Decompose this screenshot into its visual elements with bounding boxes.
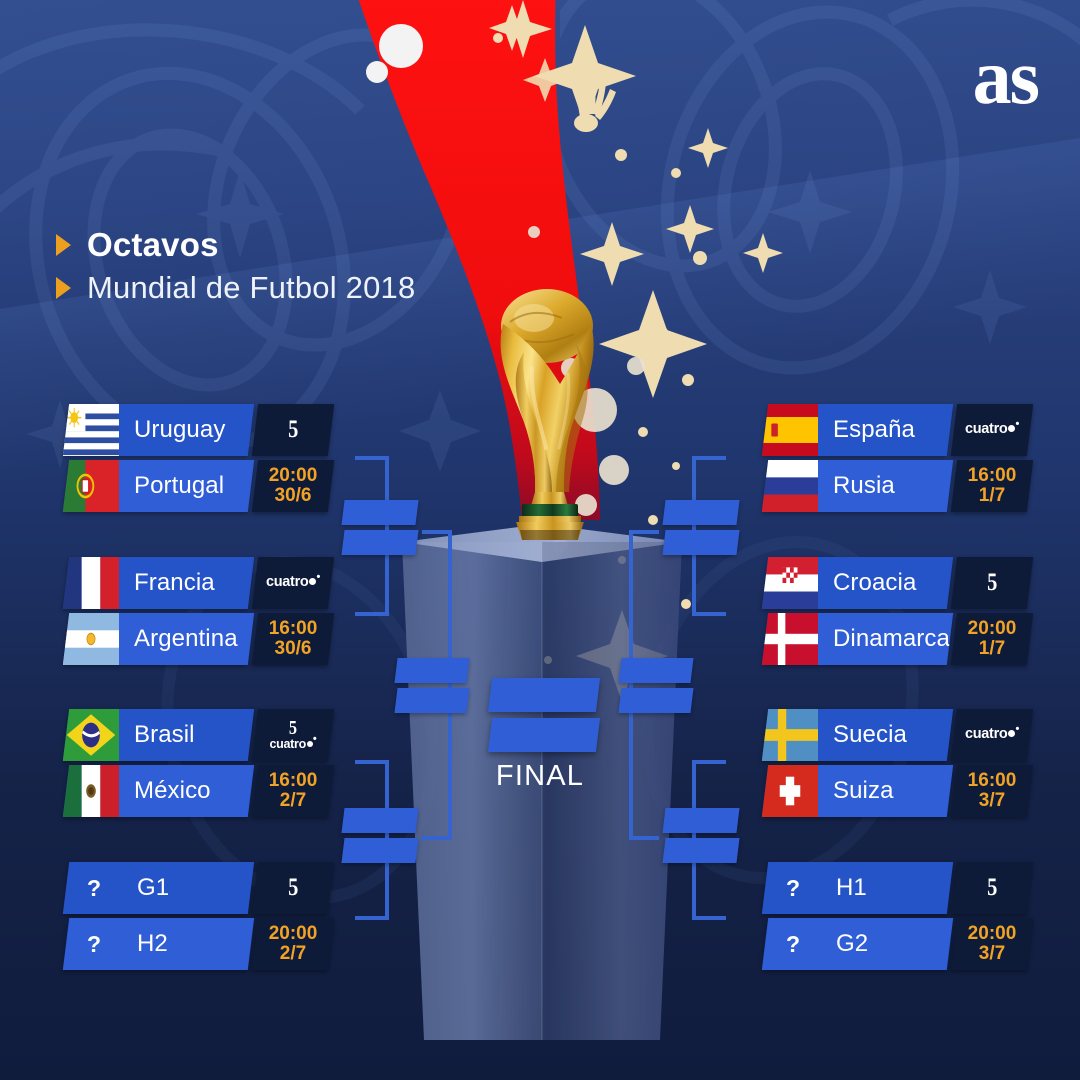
final-slot-top [488,678,600,712]
slot [618,688,693,713]
match-time-block: 20:001/7 [968,619,1017,659]
cuatro-logo-dot [309,578,316,585]
triangle-bullet-icon-2 [56,277,71,299]
team-row-body[interactable]: ?H1 [762,862,953,914]
match-espana-rusia[interactable]: Españacuatro• Rusia16:001/7 [765,404,1030,516]
channel-badge: 5cuatro• [252,709,334,761]
team-row-bottom[interactable]: Dinamarca20:001/7 [765,613,1030,665]
title-block: Octavos Mundial de Futbol 2018 [56,226,415,312]
match-date: 30/6 [275,639,312,659]
match-time: 16:00 [269,771,318,791]
unknown-team-icon: ? [66,862,122,914]
slot [341,808,418,833]
team-row-body[interactable]: ?G2 [762,918,953,970]
semifinal-slot-right [620,658,692,713]
match-uruguay-portugal[interactable]: Uruguay5 Portugal20:0030/6 [66,404,331,516]
team-row-body[interactable]: ?H2 [63,918,254,970]
flag-croacia [762,557,818,609]
slot [618,658,693,683]
channel-badge: cuatro• [951,404,1033,456]
team-name: España [818,416,915,444]
team-row-top[interactable]: Uruguay5 [66,404,331,456]
match-brasil-mexico[interactable]: Brasil5cuatro• México16:002/7 [66,709,331,821]
slot [394,688,469,713]
team-name: Suecia [818,721,907,749]
channel-badge: 5 [252,404,334,456]
slot [662,500,739,525]
match-time: 20:00 [968,619,1017,639]
cuatro-logo-text: cuatro [965,422,1008,437]
channel-badge: 5 [252,862,334,914]
match-date: 3/7 [979,791,1005,811]
match-date: 3/7 [979,944,1005,964]
team-row-body[interactable]: ?G1 [63,862,254,914]
match-time-block: 16:002/7 [269,771,318,811]
quarterfinal-slot-right-2 [664,808,738,863]
match-date: 2/7 [280,944,306,964]
kickoff-badge: 16:0030/6 [252,613,334,665]
match-date: 30/6 [275,486,312,506]
team-row-body[interactable]: Francia [63,557,254,609]
unknown-team-icon: ? [765,918,821,970]
team-row-top[interactable]: ?G15 [66,862,331,914]
team-row-body[interactable]: Croacia [762,557,953,609]
match-time: 16:00 [968,466,1017,486]
flag-dinamarca [762,613,818,665]
kickoff-badge: 16:002/7 [252,765,334,817]
team-row-body[interactable]: México [63,765,254,817]
slot [394,658,469,683]
flag-uruguay [63,404,119,456]
telecinco-logo: 5 [289,718,297,739]
team-row-body[interactable]: Argentina [63,613,254,665]
flag-suecia [762,709,818,761]
team-row-body[interactable]: Brasil [63,709,254,761]
unknown-team-icon: ? [765,862,821,914]
kickoff-badge: 16:001/7 [951,460,1033,512]
match-time: 20:00 [269,466,318,486]
channel-badge: 5 [951,862,1033,914]
team-name: H2 [122,930,168,958]
title-sub-row: Mundial de Futbol 2018 [56,270,415,306]
team-row-bottom[interactable]: ?G220:003/7 [765,918,1030,970]
telecinco-logo: 5 [987,570,997,596]
title-main-row: Octavos [56,226,415,264]
team-row-body[interactable]: España [762,404,953,456]
cuatro-logo-tick: • [1015,724,1019,736]
channel-badge: 5 [951,557,1033,609]
match-time-block: 20:003/7 [968,924,1017,964]
final-slot-bottom [488,718,600,752]
match-time-block: 20:0030/6 [269,466,318,506]
slot [662,808,739,833]
match-time: 20:00 [968,924,1017,944]
team-name: Croacia [818,569,916,597]
team-name: Francia [119,569,215,597]
cuatro-logo-text: cuatro [266,575,309,590]
match-g1-h2[interactable]: ?G15?H220:002/7 [66,862,331,974]
cuatro-logo-text: cuatro [965,727,1008,742]
kickoff-badge: 16:003/7 [951,765,1033,817]
semifinal-slot-left [396,658,468,713]
match-time-block: 20:002/7 [269,924,318,964]
cuatro-logo-tick: • [316,572,320,584]
flag-espana [762,404,818,456]
flag-suiza [762,765,818,817]
team-row-top[interactable]: Croacia5 [765,557,1030,609]
channel-badge: cuatro• [951,709,1033,761]
team-row-bottom[interactable]: México16:002/7 [66,765,331,817]
quarterfinal-slot-left-2 [343,808,417,863]
kickoff-badge: 20:0030/6 [252,460,334,512]
flag-portugal [63,460,119,512]
world-cup-trophy [472,282,622,542]
slot [341,500,418,525]
telecinco-logo: 5 [288,875,298,901]
team-row-body[interactable]: Portugal [63,460,254,512]
page-subtitle: Mundial de Futbol 2018 [87,270,415,306]
team-row-top[interactable]: Brasil5cuatro• [66,709,331,761]
infographic-canvas: as Octavos Mundial de Futbol 2018 [0,0,1080,1080]
match-suecia-suiza[interactable]: Sueciacuatro• Suiza16:003/7 [765,709,1030,821]
team-name: G2 [821,930,868,958]
match-francia-argentina[interactable]: Franciacuatro• Argentina16:0030/6 [66,557,331,669]
team-row-top[interactable]: Sueciacuatro• [765,709,1030,761]
slot [341,838,418,863]
team-row-bottom[interactable]: Argentina16:0030/6 [66,613,331,665]
cuatro-logo: cuatro• [266,575,320,590]
team-name: G1 [122,874,169,902]
triangle-bullet-icon [56,234,71,256]
quarterfinal-slot-right-1 [664,500,738,555]
cuatro-logo-text: cuatro [270,738,306,751]
telecinco-logo: 5 [987,875,997,901]
slot [662,838,739,863]
page-title: Octavos [87,226,219,264]
flag-rusia [762,460,818,512]
channel-badge: cuatro• [252,557,334,609]
unknown-team-icon: ? [66,918,122,970]
flag-mexico [63,765,119,817]
team-name: Uruguay [119,416,225,444]
team-name: Dinamarca [818,625,950,653]
match-date: 1/7 [979,486,1005,506]
team-row-bottom[interactable]: Rusia16:001/7 [765,460,1030,512]
team-name: Rusia [818,472,895,500]
as-logo: as [973,38,1038,116]
cuatro-logo: cuatro• [270,738,317,752]
kickoff-badge: 20:002/7 [252,918,334,970]
team-row-body[interactable]: Suecia [762,709,953,761]
match-time: 16:00 [968,771,1017,791]
team-name: Brasil [119,721,195,749]
team-row-body[interactable]: Uruguay [63,404,254,456]
match-time-block: 16:003/7 [968,771,1017,811]
team-row-top[interactable]: Franciacuatro• [66,557,331,609]
match-date: 2/7 [280,791,306,811]
team-name: Argentina [119,625,238,653]
team-name: H1 [821,874,867,902]
match-date: 1/7 [979,639,1005,659]
cuatro-logo-dot [1008,730,1015,737]
team-row-top[interactable]: Españacuatro• [765,404,1030,456]
match-h1-g2[interactable]: ?H15?G220:003/7 [765,862,1030,974]
cuatro-logo: cuatro• [965,727,1019,742]
kickoff-badge: 20:003/7 [951,918,1033,970]
final-slot-pair [490,678,598,752]
cuatro-logo-tick: • [1015,419,1019,431]
slot [662,530,739,555]
team-name: Portugal [119,472,224,500]
match-croacia-dinamarca[interactable]: Croacia5 Dinamarca20:001/7 [765,557,1030,669]
flag-argentina [63,613,119,665]
match-time: 16:00 [269,619,318,639]
flag-francia [63,557,119,609]
slot [341,530,418,555]
team-row-body[interactable]: Rusia [762,460,953,512]
cuatro-logo: cuatro• [965,422,1019,437]
kickoff-badge: 20:001/7 [951,613,1033,665]
team-name: México [119,777,211,805]
cuatro-logo-tick: • [313,734,317,746]
match-time-block: 16:001/7 [968,466,1017,506]
team-row-bottom[interactable]: Portugal20:0030/6 [66,460,331,512]
team-row-body[interactable]: Suiza [762,765,953,817]
team-row-top[interactable]: ?H15 [765,862,1030,914]
quarterfinal-slot-left-1 [343,500,417,555]
team-row-bottom[interactable]: ?H220:002/7 [66,918,331,970]
cuatro-logo-dot [1008,425,1015,432]
team-row-body[interactable]: Dinamarca [762,613,953,665]
flag-brasil [63,709,119,761]
match-time-block: 16:0030/6 [269,619,318,659]
team-row-bottom[interactable]: Suiza16:003/7 [765,765,1030,817]
team-name: Suiza [818,777,894,805]
match-time: 20:00 [269,924,318,944]
telecinco-logo: 5 [288,417,298,443]
